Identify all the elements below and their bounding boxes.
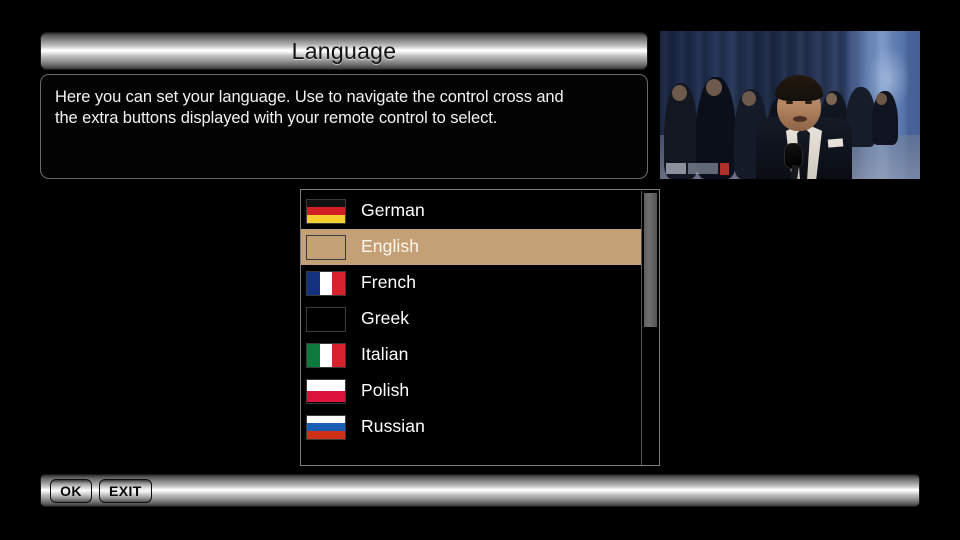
list-item-label: English [361, 238, 419, 256]
description-panel: Here you can set your language. Use to n… [40, 74, 648, 179]
preview-reporter-mouth [793, 116, 807, 122]
news-bug-accent [720, 163, 729, 175]
preview-reporter-eye [786, 101, 793, 104]
flag-russia-icon [306, 415, 346, 440]
flag-italy-icon [306, 343, 346, 368]
flag-germany-icon [306, 199, 346, 224]
news-bug-wordmark [688, 163, 718, 174]
ok-button[interactable]: OK [50, 479, 92, 503]
news-bug-block [666, 163, 686, 174]
list-item-greek[interactable]: Greek [301, 301, 643, 337]
flag-greece-icon [306, 307, 346, 332]
list-item-russian[interactable]: Russian [301, 409, 643, 445]
preview-crowd-head [672, 85, 687, 101]
preview-reporter-eye [805, 101, 812, 104]
preview-crowd-head [742, 91, 756, 106]
list-item-label: German [361, 202, 425, 220]
news-channel-bug [666, 162, 729, 175]
ok-button-label: OK [60, 484, 82, 498]
list-scrollbar[interactable] [641, 191, 658, 466]
list-item-label: French [361, 274, 416, 292]
list-item-label: Greek [361, 310, 409, 328]
scrollbar-thumb[interactable] [644, 193, 657, 327]
list-item-label: Polish [361, 382, 409, 400]
preview-crowd-head [826, 93, 837, 105]
list-item-label: Russian [361, 418, 425, 436]
preview-reporter-pocket-square [828, 138, 844, 147]
language-list: German English [301, 190, 643, 445]
live-tv-preview[interactable] [660, 31, 920, 179]
language-list-panel[interactable]: German English [300, 189, 660, 466]
exit-button-label: EXIT [109, 484, 142, 498]
window-title-bar: Language [40, 32, 648, 70]
footer-button-bar: OK EXIT [40, 474, 920, 507]
flag-united-kingdom-icon [306, 235, 346, 260]
list-item-label: Italian [361, 346, 408, 364]
list-item-french[interactable]: French [301, 265, 643, 301]
list-item-german[interactable]: German [301, 193, 643, 229]
exit-button[interactable]: EXIT [99, 479, 152, 503]
list-item-polish[interactable]: Polish [301, 373, 643, 409]
list-item-english[interactable]: English [301, 229, 643, 265]
list-item-italian[interactable]: Italian [301, 337, 643, 373]
flag-france-icon [306, 271, 346, 296]
tv-settings-screen: Language Here you can set your language.… [0, 0, 960, 540]
description-text: Here you can set your language. Use to n… [55, 87, 633, 129]
preview-crowd-head [876, 93, 887, 105]
page-title: Language [292, 40, 397, 63]
flag-poland-icon [306, 379, 346, 404]
preview-crowd-head [706, 79, 722, 96]
